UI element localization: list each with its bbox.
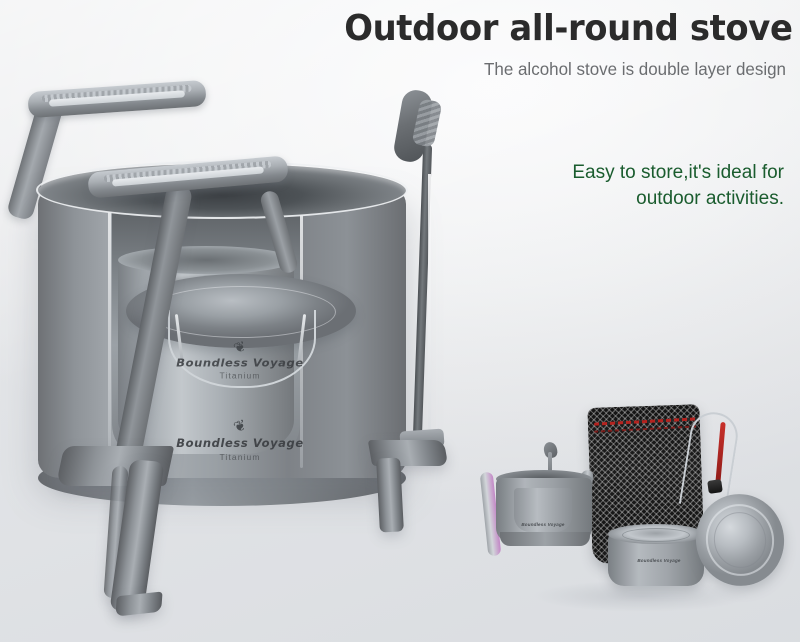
leaf-icon: ❦ bbox=[232, 341, 248, 355]
inner-pot-rim bbox=[118, 246, 294, 274]
brand-mark-upper: ❦ Boundless Voyage Titanium bbox=[160, 340, 320, 380]
brand-name: Boundless Voyage bbox=[150, 436, 330, 450]
brand-material: Titanium bbox=[150, 452, 330, 462]
support-leg-front-foot bbox=[115, 591, 162, 616]
windscreen-seam-left bbox=[108, 196, 111, 468]
alcohol-burner-brand: Boundless Voyage bbox=[632, 558, 686, 563]
page-subtitle: The alcohol stove is double layer design bbox=[330, 58, 786, 80]
feature-text-block: Easy to store,it's ideal for outdoor act… bbox=[484, 160, 784, 212]
brand-material: Titanium bbox=[160, 371, 320, 380]
leaf-icon: ❦ bbox=[232, 419, 248, 434]
alcohol-burner-ring-inner bbox=[634, 531, 678, 540]
feature-line-1: Easy to store,it's ideal for bbox=[484, 160, 784, 186]
hero-product-image: ❦ Boundless Voyage Titanium ❦ Boundless … bbox=[0, 78, 480, 618]
brand-name: Boundless Voyage bbox=[160, 356, 320, 369]
product-banner: ❦ Boundless Voyage Titanium ❦ Boundless … bbox=[0, 0, 800, 642]
support-leg-right-foot bbox=[376, 457, 404, 532]
brand-mark-lower: ❦ Boundless Voyage Titanium bbox=[150, 418, 330, 462]
folding-handle-upper bbox=[27, 80, 206, 118]
kit-stove-base bbox=[500, 532, 590, 546]
kit-inset-image: Boundless Voyage Boundless Voyage bbox=[482, 392, 800, 632]
headline-block: Outdoor all-round stove The alcohol stov… bbox=[316, 8, 786, 80]
feature-line-2: outdoor activities. bbox=[484, 186, 784, 212]
handle-arm-right-highlight bbox=[428, 174, 431, 436]
kit-stove-brand: Boundless Voyage bbox=[516, 522, 570, 527]
lid-cord-clip bbox=[707, 479, 723, 494]
page-title: Outdoor all-round stove bbox=[344, 8, 786, 50]
